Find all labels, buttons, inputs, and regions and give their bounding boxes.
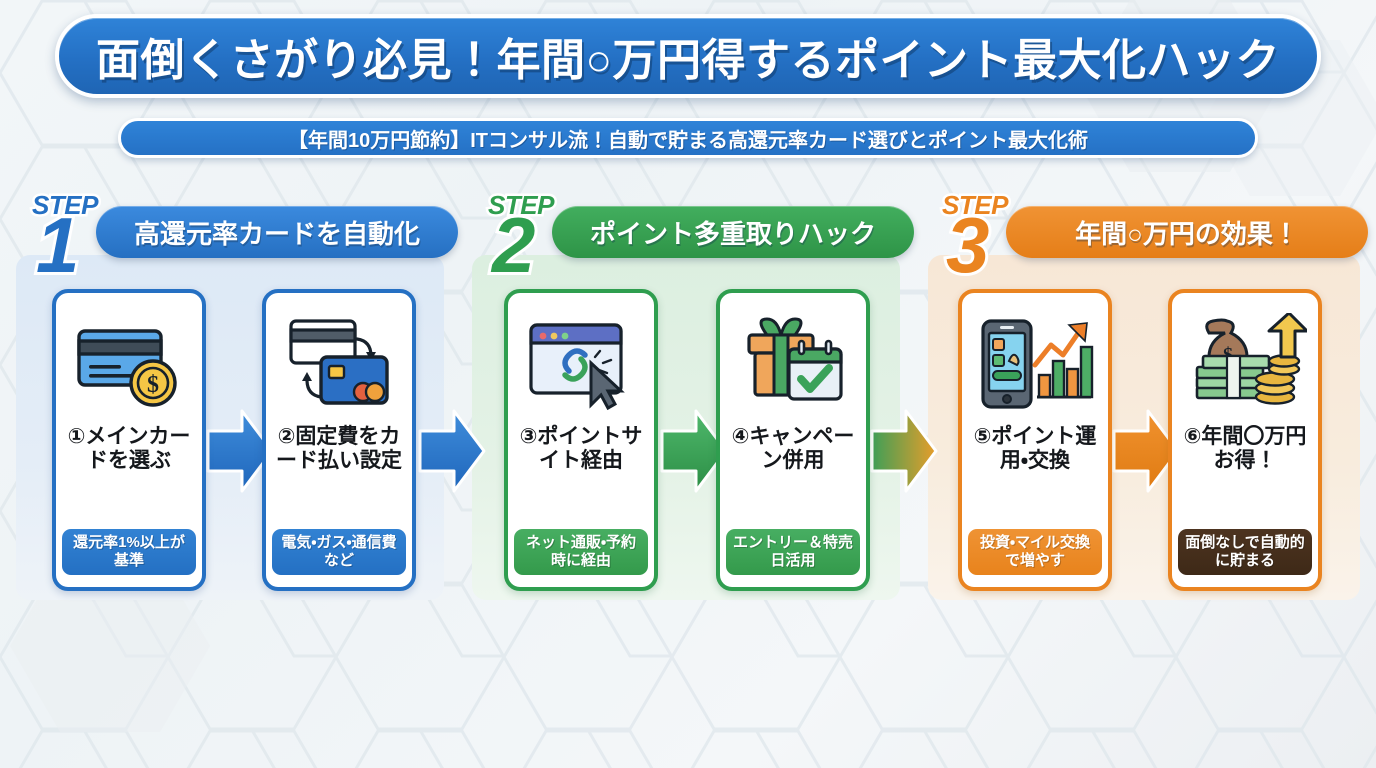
step-label-1: 高還元率カードを自動化 [134,214,420,251]
card-title-1: ①メインカードを選ぶ [63,425,195,529]
card-recurring-payment-icon [277,313,401,417]
title-banner: 面倒くさがり必見！年間○万円得するポイント最大化ハック [55,14,1321,98]
card-badge-2: 電気・ガス・通信費など [272,529,406,575]
subtitle-banner: 【年間10万円節約】ITコンサル流！自動で貯まる高還元率カード選びとポイント最大… [118,118,1258,158]
card-badge-3: ネット通販・予約時に経由 [514,529,648,575]
card-title-6: ⑥年間〇万円お得！ [1179,425,1311,529]
card-title-2: ②固定費をカード払い設定 [273,425,405,529]
card-title-5: ⑤ポイント運用・交換 [969,425,1101,529]
step-word-3: STEP [942,190,1008,221]
step-label-pill-2: ポイント多重取りハック [552,206,914,258]
step-label-2: ポイント多重取りハック [590,214,876,251]
card-badge-1: 還元率1%以上が基準 [62,529,196,575]
step-card-4[interactable]: ④キャンペーン併用 エントリー＆特売日活用 [716,289,870,591]
smartphone-growth-chart-icon [973,313,1097,417]
step-card-3[interactable]: ③ポイントサイト経由 ネット通販・予約時に経由 [504,289,658,591]
card-title-3: ③ポイントサイト経由 [515,425,647,529]
step-header-3: 3 STEP 年間○万円の効果！ [938,190,1368,268]
credit-card-coin-icon: $ [67,313,191,417]
card-badge-4: エントリー＆特売日活用 [726,529,860,575]
page-subtitle: 【年間10万円節約】ITコンサル流！自動で貯まる高還元率カード選びとポイント最大… [288,124,1088,153]
step-word-2: STEP [488,190,554,221]
step-card-2[interactable]: ②固定費をカード払い設定 電気・ガス・通信費など [262,289,416,591]
title-pill: 面倒くさがり必見！年間○万円得するポイント最大化ハック [55,14,1321,98]
subtitle-pill: 【年間10万円節約】ITコンサル流！自動で貯まる高還元率カード選びとポイント最大… [118,118,1258,158]
page-title: 面倒くさがり必見！年間○万円得するポイント最大化ハック [96,24,1280,88]
card-badge-6: 面倒なしで自動的に貯まる [1178,529,1312,575]
card-title-4: ④キャンペーン併用 [727,425,859,529]
step-label-3: 年間○万円の効果！ [1075,214,1299,251]
step-card-6[interactable]: $ ⑥年間〇万円お得！ 面倒なしで自動的に貯まる [1168,289,1322,591]
step-header-1: 1 STEP 高還元率カードを自動化 [28,190,458,268]
step-card-1[interactable]: $ ①メインカードを選ぶ 還元率1%以上が基準 [52,289,206,591]
step-label-pill-1: 高還元率カードを自動化 [96,206,458,258]
browser-link-cursor-icon [519,313,643,417]
money-bag-cash-arrow-icon: $ [1183,313,1307,417]
step-card-5[interactable]: ⑤ポイント運用・交換 投資・マイル交換で増やす [958,289,1112,591]
gift-calendar-check-icon [731,313,855,417]
infographic-canvas: 面倒くさがり必見！年間○万円得するポイント最大化ハック 【年間10万円節約】IT… [0,0,1376,768]
arrow-card2-to-card3 [418,405,486,497]
step-label-pill-3: 年間○万円の効果！ [1006,206,1368,258]
svg-text:$: $ [147,372,159,398]
card-badge-5: 投資・マイル交換で増やす [968,529,1102,575]
step-word-1: STEP [32,190,98,221]
arrow-card4-to-card5 [870,405,938,497]
step-header-2: 2 STEP ポイント多重取りハック [484,190,914,268]
